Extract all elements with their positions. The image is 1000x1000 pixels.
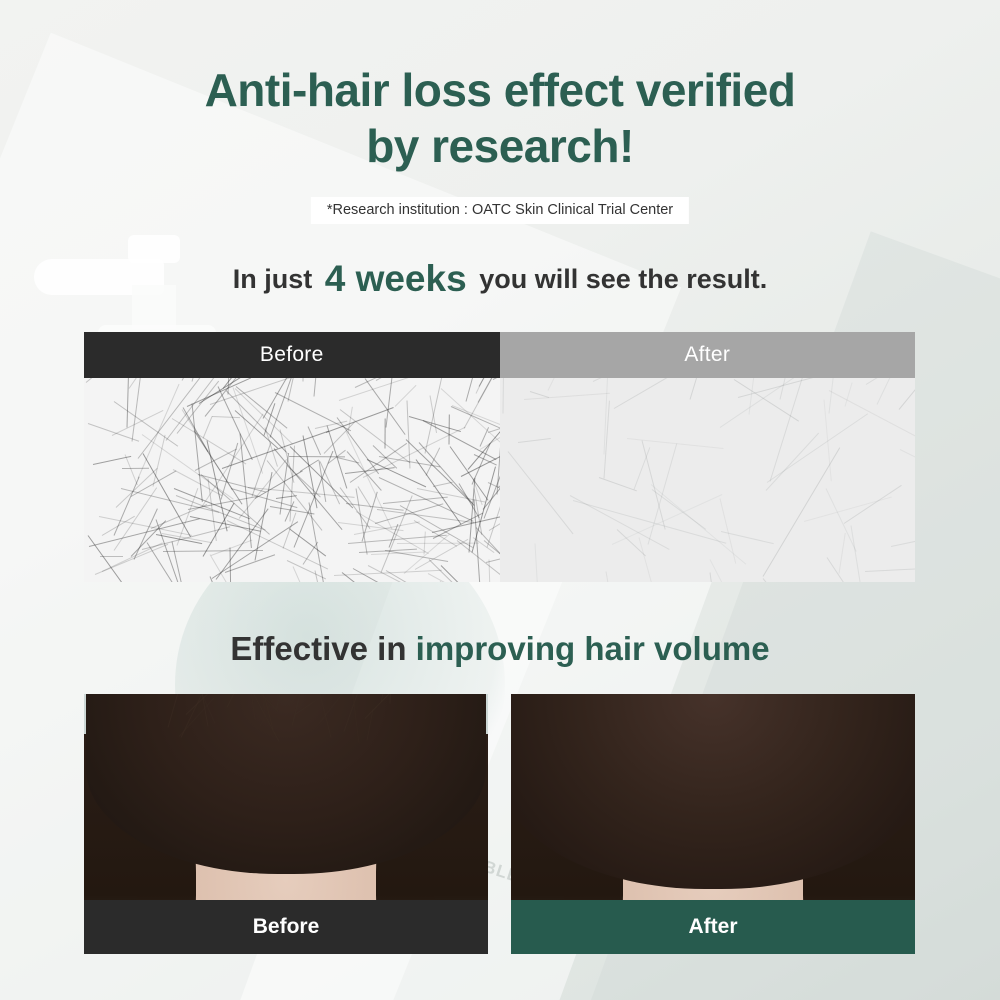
result-timeframe-text: In just 4 weeks you will see the result. xyxy=(0,258,1000,300)
face-before-label: Before xyxy=(84,900,488,954)
section2-title-highlight: improving hair volume xyxy=(416,630,770,667)
scalp-before-image xyxy=(84,378,500,582)
headline-line-2: by research! xyxy=(0,118,1000,174)
subline-suffix: you will see the result. xyxy=(479,264,767,294)
face-after-label: After xyxy=(511,900,915,954)
face-after-card: After xyxy=(511,694,915,954)
scalp-after-image xyxy=(500,378,916,582)
headline-line-1: Anti-hair loss effect verified xyxy=(205,64,796,116)
scalp-after-label: After xyxy=(500,332,916,378)
research-institution-note: *Research institution : OATC Skin Clinic… xyxy=(311,197,689,224)
section-title-volume: Effective in improving hair volume xyxy=(0,630,1000,668)
page-title: Anti-hair loss effect verified by resear… xyxy=(0,62,1000,174)
scalp-before-label: Before xyxy=(84,332,500,378)
subline-prefix: In just xyxy=(233,264,313,294)
face-before-card: Before xyxy=(84,694,488,954)
subline-highlight: 4 weeks xyxy=(320,258,472,299)
promo-page: osm tion ABLE Anti-hair loss effect veri… xyxy=(0,0,1000,1000)
scalp-comparison: Before After xyxy=(84,332,915,582)
face-comparison: Before After xyxy=(84,694,915,954)
section2-title-prefix: Effective in xyxy=(230,630,406,667)
hair-mass-after xyxy=(511,694,915,889)
scalp-comparison-headers: Before After xyxy=(84,332,915,378)
scalp-comparison-images xyxy=(84,378,915,582)
